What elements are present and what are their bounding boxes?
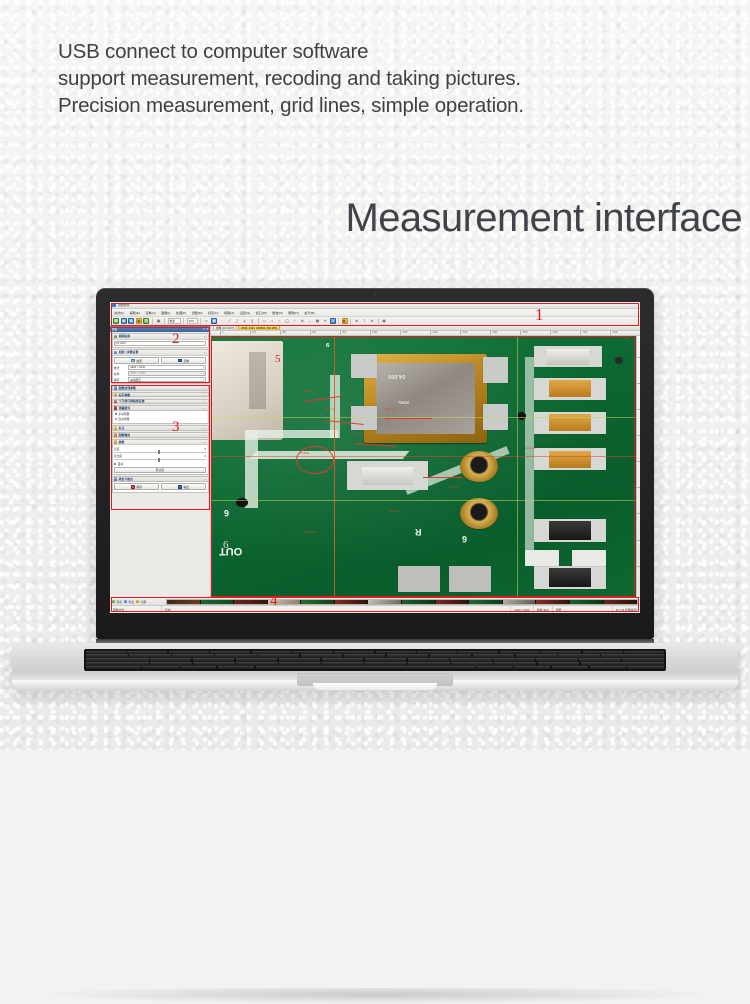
cursor-icon[interactable]: ↖ bbox=[204, 318, 210, 324]
chevron-down-icon[interactable]: ⌄ bbox=[204, 393, 206, 397]
solder-pad bbox=[351, 406, 376, 429]
solder-pad bbox=[483, 357, 508, 383]
status-file-tab[interactable]: 图像文件 bbox=[110, 606, 162, 613]
brightness-slider-top: 亮度 0 bbox=[114, 447, 206, 451]
thumbnail[interactable] bbox=[335, 600, 369, 604]
list-label: 列表 bbox=[128, 600, 134, 604]
section-annotation[interactable]: 标注 ⌄ bbox=[112, 425, 209, 431]
save-file-icon[interactable]: ▤ bbox=[128, 318, 134, 324]
zoom-in-icon[interactable]: ⊕ bbox=[354, 318, 360, 324]
menu-image[interactable]: 图像(I) bbox=[161, 310, 170, 315]
toolbar-separator bbox=[200, 318, 201, 324]
menu-settings[interactable]: 设置(S) bbox=[240, 310, 250, 315]
measure-label: 42.41 um bbox=[304, 391, 314, 393]
keyboard-row bbox=[86, 651, 664, 654]
app-icon bbox=[112, 303, 116, 307]
toolbar-separator bbox=[164, 318, 165, 324]
device-group-body: HY-2307 bbox=[113, 340, 208, 347]
measure-label: R=12.06 um bbox=[304, 532, 317, 534]
parallel-icon[interactable]: ∥ bbox=[249, 318, 255, 324]
crystal-can-body: 54.000 XTAL bbox=[376, 363, 475, 434]
capture-icon[interactable]: ▥ bbox=[143, 318, 149, 324]
menu-edit[interactable]: 编辑(E) bbox=[130, 310, 140, 315]
chevron-down-icon[interactable]: ⌄ bbox=[204, 406, 206, 410]
smd-component bbox=[547, 349, 589, 365]
window-title-bar: 测量软件 bbox=[110, 302, 640, 309]
annotation-number-1: 1 bbox=[535, 306, 544, 323]
angle-icon[interactable]: ∠ bbox=[242, 318, 248, 324]
keyboard-row bbox=[86, 654, 664, 657]
toolbar-separator bbox=[350, 318, 351, 324]
smd-component bbox=[549, 521, 591, 539]
circle-icon[interactable]: ○ bbox=[276, 318, 282, 324]
report-icon bbox=[114, 477, 117, 480]
brightness-slider-row: 亮度 0 bbox=[114, 447, 206, 453]
open-file-icon[interactable]: ▤ bbox=[121, 318, 127, 324]
status-memory: 977.24 兆像素/秒 bbox=[613, 606, 640, 613]
toolbar-separator bbox=[152, 318, 153, 324]
slider-icon bbox=[114, 440, 117, 443]
save-all-icon[interactable]: ▣ bbox=[136, 318, 142, 324]
camera-icon bbox=[131, 359, 135, 363]
chevron-down-icon: ▾ bbox=[203, 372, 204, 375]
measurement-software-window: 测量软件 文件(F) 编辑(E) 查看(V) 图像(I) 处理(P) 测量(M)… bbox=[110, 302, 640, 613]
window-title: 测量软件 bbox=[118, 303, 130, 307]
radius-icon[interactable]: ⊕ bbox=[299, 318, 305, 324]
export-icon bbox=[178, 485, 182, 489]
measure-label: 40.40 um bbox=[525, 448, 535, 450]
capture-group-expander-icon[interactable]: ⌄ bbox=[204, 350, 206, 354]
preview-icon bbox=[112, 600, 115, 603]
grid-icon[interactable]: ▦ bbox=[314, 318, 320, 324]
smd-component bbox=[549, 451, 591, 468]
checkbox-icon bbox=[114, 463, 117, 466]
section-calibration[interactable]: 标定参数 ⌄ bbox=[112, 392, 209, 398]
stack-icon bbox=[114, 433, 117, 436]
menu-calibrate[interactable]: 标定(C) bbox=[208, 310, 218, 315]
drill-hole bbox=[517, 412, 526, 420]
status-resolution: 4320 x 3240 bbox=[511, 606, 533, 613]
savepath-row: 保存 本地硬盘 ▾ bbox=[114, 377, 206, 382]
copy-line-3: Precision measurement, grid lines, simpl… bbox=[58, 92, 678, 119]
eraser-icon[interactable]: ◧ bbox=[342, 318, 348, 324]
menu-process[interactable]: 处理(P) bbox=[176, 310, 186, 315]
radio-dot-icon bbox=[115, 418, 118, 421]
keyboard-row bbox=[86, 658, 664, 661]
section-image-processing[interactable]: 图像处理参数 ⌄ bbox=[112, 385, 209, 391]
solder-pad bbox=[525, 550, 559, 566]
smd-component bbox=[362, 467, 413, 485]
keyboard-row bbox=[86, 666, 664, 669]
thumbnail[interactable] bbox=[570, 600, 604, 604]
solder-pad bbox=[572, 550, 606, 566]
laptop-lid: 测量软件 文件(F) 编辑(E) 查看(V) 图像(I) 处理(P) 测量(M)… bbox=[96, 288, 654, 639]
panel-close-icon[interactable]: ✕ bbox=[206, 327, 208, 331]
brightness-label: 亮度 bbox=[114, 447, 120, 451]
copy-line-2: support measurement, recoding and taking… bbox=[58, 65, 678, 92]
pcb-photograph: 54.000 XTAL bbox=[211, 336, 636, 597]
chevron-down-icon[interactable]: ⌄ bbox=[204, 386, 206, 390]
annotation-number-4: 4 bbox=[270, 594, 278, 609]
menu-video[interactable]: 视频(A) bbox=[224, 310, 234, 315]
webcam-icon bbox=[374, 293, 377, 296]
rect-icon[interactable]: ▭ bbox=[261, 318, 267, 324]
menu-bar: 文件(F) 编辑(E) 查看(V) 图像(I) 处理(P) 测量(M) 标定(C… bbox=[110, 309, 640, 317]
toolbar-separator bbox=[338, 318, 339, 324]
format-label: 格式 bbox=[114, 366, 127, 370]
savepath-label: 保存 bbox=[114, 378, 127, 382]
ruler-tick: 1800 bbox=[492, 332, 497, 334]
laptop-mockup: 测量软件 文件(F) 编辑(E) 查看(V) 图像(I) 处理(P) 测量(M)… bbox=[0, 288, 750, 708]
measure-circle[interactable] bbox=[296, 446, 334, 475]
drill-hole bbox=[236, 498, 247, 507]
chevron-down-icon: ▾ bbox=[203, 366, 204, 369]
section-annotation-label: 标注 bbox=[119, 426, 125, 430]
point-icon[interactable]: · bbox=[219, 318, 225, 324]
drill-hole bbox=[615, 357, 623, 364]
tab-image-file[interactable]: 2018_0101_003534_010.JPG bbox=[238, 325, 280, 330]
crystal-marking-name: XTAL bbox=[398, 400, 409, 405]
annotation-number-3: 3 bbox=[172, 420, 180, 435]
scale-field[interactable]: 40% bbox=[187, 318, 198, 324]
ruler-tick: 1600 bbox=[462, 332, 467, 334]
large-label: 大图 bbox=[140, 600, 146, 604]
thumbnail[interactable] bbox=[402, 600, 436, 604]
slider-thumb[interactable] bbox=[158, 450, 160, 454]
menu-file[interactable]: 文件(F) bbox=[114, 310, 124, 315]
ruler-tick: 1000 bbox=[372, 332, 377, 334]
contrast-slider[interactable] bbox=[114, 459, 206, 460]
image-icon bbox=[114, 386, 117, 389]
note-icon bbox=[114, 426, 117, 429]
section-grid-lines-label: 十字线与网格线设置 bbox=[119, 399, 145, 403]
keyboard-row bbox=[86, 662, 664, 665]
trace bbox=[245, 430, 258, 508]
framerate-select[interactable]: 1920 × 1080 ▾ bbox=[128, 371, 206, 376]
ruler-tick: 2000 bbox=[522, 332, 527, 334]
radio-dot-icon bbox=[115, 413, 118, 416]
measure-icon bbox=[114, 406, 117, 409]
status-zoom: 缩放 40% bbox=[534, 606, 553, 613]
savepath-value: 本地硬盘 bbox=[130, 378, 141, 382]
vertical-ruler bbox=[636, 336, 640, 597]
export-report-button[interactable]: 输出 bbox=[161, 483, 206, 490]
thumbnail[interactable] bbox=[368, 600, 402, 604]
unit-field[interactable]: 像素 bbox=[168, 318, 181, 324]
radio-manual-label: 手动测量 bbox=[118, 412, 129, 416]
capture-group: 拍照 / 录像设置 ⌄ 拍照 录像 bbox=[112, 349, 209, 384]
status-mode: 测量 bbox=[553, 606, 613, 613]
camera-icon bbox=[114, 335, 117, 338]
list-button[interactable]: 列表 bbox=[124, 600, 134, 604]
contrast-slider-row: 对比度 0 bbox=[114, 454, 206, 460]
video-icon bbox=[178, 359, 182, 363]
arc-icon[interactable]: ◠ bbox=[292, 318, 298, 324]
annotation-number-6: 6 bbox=[223, 540, 229, 551]
polyline-icon[interactable]: ╱ bbox=[234, 318, 240, 324]
format-select[interactable]: 4320 × 3240 ▾ bbox=[128, 365, 206, 370]
menu-view[interactable]: 查看(V) bbox=[145, 310, 155, 315]
device-group-expander-icon[interactable]: ⌄ bbox=[204, 334, 206, 338]
contrast-slider-top: 对比度 0 bbox=[114, 454, 206, 458]
device-group-title: 视频设备 bbox=[119, 334, 131, 338]
thumbnail[interactable] bbox=[301, 600, 335, 604]
section-measure-mode-label: 测量模式 bbox=[119, 406, 131, 410]
save-report-label: 保存 bbox=[136, 485, 142, 489]
square-icon[interactable]: □ bbox=[269, 318, 275, 324]
ruler-tick: 1200 bbox=[402, 332, 407, 334]
capture-buttons-row: 拍照 录像 bbox=[114, 357, 206, 364]
chevron-down-icon[interactable]: ⌄ bbox=[204, 426, 206, 430]
measure-label: 26.66 um bbox=[317, 472, 327, 474]
device-name-field[interactable]: HY-2307 bbox=[114, 341, 206, 346]
gold-via bbox=[460, 498, 498, 529]
grid-icon bbox=[114, 400, 117, 403]
silkscreen-r: R bbox=[415, 527, 422, 537]
brightness-value: 0 bbox=[205, 447, 207, 451]
section-calibration-label: 标定参数 bbox=[119, 393, 131, 397]
radio-manual-measure[interactable]: 手动测量 bbox=[115, 412, 206, 416]
toolbar-separator bbox=[378, 318, 379, 324]
calibrate-icon[interactable]: ⊿ bbox=[330, 318, 336, 324]
solder-pad bbox=[398, 566, 440, 592]
capture-group-title: 拍照 / 录像设置 bbox=[119, 350, 139, 354]
thumbnail-toolbar: 预览 列表 大图 bbox=[110, 597, 640, 605]
connector-slot bbox=[249, 352, 266, 409]
chevron-down-icon[interactable]: ⌄ bbox=[204, 477, 206, 481]
toolbar-separator bbox=[258, 318, 259, 324]
trace bbox=[245, 430, 338, 438]
chevron-down-icon[interactable]: ⌄ bbox=[204, 433, 206, 437]
laptop-screen: 测量软件 文件(F) 编辑(E) 查看(V) 图像(I) 处理(P) 测量(M)… bbox=[110, 302, 640, 613]
section-image-stack[interactable]: 图像叠加 ⌄ bbox=[112, 432, 209, 438]
select-icon[interactable]: ▣ bbox=[211, 318, 217, 324]
distance-icon[interactable]: ↔ bbox=[307, 318, 313, 324]
report-buttons-row: 保存 输出 bbox=[114, 483, 206, 490]
main-toolbar: ▤ ▤ ▤ ▣ ▥ ▦ 像素 40% ↖ ▣ · ╱ ╱ bbox=[110, 317, 640, 326]
measure-label: 61.72 um bbox=[449, 487, 459, 489]
solder-pad bbox=[351, 354, 376, 377]
adjust-group-title: 参数 bbox=[119, 440, 125, 444]
annotation-number-5: 5 bbox=[275, 354, 281, 365]
crystal-oscillator-package: 54.000 XTAL bbox=[364, 354, 487, 443]
page-headline: Measurement interface bbox=[346, 196, 742, 241]
section-image-processing-label: 图像处理参数 bbox=[119, 386, 136, 390]
thumbnail[interactable] bbox=[536, 600, 570, 604]
measure-label: 51.25 um bbox=[389, 511, 399, 513]
silkscreen-g: 9 bbox=[326, 341, 329, 347]
measure-line[interactable] bbox=[355, 443, 397, 446]
ruler-tick: 600 bbox=[312, 332, 316, 334]
section-image-stack-label: 图像叠加 bbox=[119, 433, 131, 437]
thumbnail[interactable] bbox=[167, 600, 201, 604]
panel-caption-buttons: ▾ ✕ bbox=[203, 327, 208, 331]
measure-label: 33.12 um bbox=[355, 435, 365, 437]
status-ready: 就绪 bbox=[162, 606, 511, 613]
ruler-tick: 0 bbox=[222, 332, 223, 334]
ruler-tick: 200 bbox=[252, 332, 256, 334]
text-icon[interactable]: T bbox=[361, 318, 367, 324]
framerate-label: 帧率 bbox=[114, 372, 127, 376]
crosshair-icon[interactable]: ✛ bbox=[322, 318, 328, 324]
thumbnail[interactable] bbox=[469, 600, 503, 604]
menu-report[interactable]: 报告(R) bbox=[272, 310, 282, 315]
radio-auto-label: 自动测量 bbox=[118, 417, 129, 421]
brightness-slider[interactable] bbox=[114, 452, 206, 453]
export-report-label: 输出 bbox=[183, 485, 189, 489]
print-icon[interactable]: ▦ bbox=[155, 318, 161, 324]
trace bbox=[525, 357, 533, 566]
annotation-number-2: 2 bbox=[172, 332, 180, 347]
measure-mode-radios: 手动测量 自动测量 bbox=[112, 411, 209, 424]
large-icon bbox=[136, 600, 139, 603]
toolbar-separator bbox=[183, 318, 184, 324]
menu-about[interactable]: 关于(B) bbox=[304, 310, 314, 315]
laptop-front-notch bbox=[313, 683, 437, 690]
auto-checkbox-label: 自动 bbox=[118, 462, 124, 466]
thumbnail[interactable] bbox=[604, 600, 638, 604]
large-thumbs-button[interactable]: 大图 bbox=[136, 600, 146, 604]
video-button[interactable]: 录像 bbox=[161, 357, 206, 364]
panel-caption-label: 面板 bbox=[112, 327, 118, 331]
ruler-tick: 1400 bbox=[432, 332, 437, 334]
line-icon[interactable]: ╱ bbox=[226, 318, 232, 324]
section-grid-lines[interactable]: 十字线与网格线设置 ⌄ bbox=[112, 399, 209, 405]
menu-measure[interactable]: 测量(M) bbox=[192, 310, 203, 315]
format-value: 4320 × 3240 bbox=[130, 366, 145, 369]
silkscreen-6b: 6 bbox=[462, 534, 467, 544]
thumbnail[interactable] bbox=[503, 600, 537, 604]
laptop-keyboard[interactable] bbox=[84, 649, 666, 671]
auto-checkbox[interactable]: 自动 bbox=[114, 462, 206, 466]
framerate-row: 帧率 1920 × 1080 ▾ bbox=[114, 371, 206, 376]
save-icon bbox=[131, 485, 135, 489]
contrast-label: 对比度 bbox=[114, 454, 122, 458]
menu-help[interactable]: 帮助(H) bbox=[288, 310, 298, 315]
ellipse-icon[interactable]: ◯ bbox=[284, 318, 290, 324]
image-canvas[interactable]: 54.000 XTAL bbox=[211, 336, 636, 597]
zoom-out-icon[interactable]: ⊖ bbox=[369, 318, 375, 324]
laptop-shadow bbox=[40, 988, 710, 1004]
ruler-tick: 2600 bbox=[613, 332, 618, 334]
new-file-icon[interactable]: ▤ bbox=[113, 318, 119, 324]
adjust-group-body: 亮度 0 对比度 0 bbox=[113, 445, 208, 474]
thumbnail[interactable] bbox=[234, 600, 268, 604]
capture-icon bbox=[114, 351, 117, 354]
device-group: 视频设备 ⌄ HY-2307 bbox=[112, 333, 209, 348]
smd-component bbox=[549, 380, 591, 397]
ruler-tick: 800 bbox=[342, 332, 346, 334]
radio-auto-measure[interactable]: 自动测量 bbox=[115, 417, 206, 421]
capture-group-body: 拍照 录像 格式 4320 × 3240 bbox=[113, 356, 208, 383]
ruler-tick: 2200 bbox=[552, 332, 557, 334]
trace bbox=[330, 375, 340, 438]
smd-component bbox=[549, 568, 591, 586]
copy-line-1: USB connect to computer software bbox=[58, 38, 678, 65]
crystal-marking-frequency: 54.000 bbox=[388, 373, 405, 379]
save-report-button[interactable]: 保存 bbox=[114, 483, 159, 490]
savepath-select[interactable]: 本地硬盘 ▾ bbox=[128, 377, 206, 382]
adjust-group: 参数 ⌄ 亮度 0 bbox=[112, 439, 209, 475]
list-icon bbox=[124, 600, 127, 603]
thumbnail[interactable] bbox=[201, 600, 235, 604]
tab-camera-live[interactable]: 摄像 (HY-2307) bbox=[213, 325, 237, 330]
silkscreen-6: 6 bbox=[224, 508, 229, 518]
contrast-value: 0 bbox=[205, 454, 207, 458]
white-connector bbox=[211, 341, 283, 440]
ruler-tick: 400 bbox=[282, 332, 286, 334]
laptop-base bbox=[12, 643, 738, 691]
format-row: 格式 4320 × 3240 ▾ bbox=[114, 365, 206, 370]
video-button-label: 录像 bbox=[183, 359, 189, 363]
report-buttons-body: 保存 输出 bbox=[112, 482, 209, 493]
preview-label: 预览 bbox=[116, 600, 122, 604]
status-bar: 图像文件 就绪 4320 x 3240 缩放 40% 测量 977.24 兆像素… bbox=[110, 605, 640, 613]
solder-pad bbox=[449, 566, 491, 592]
measure-label: 38.60 um bbox=[385, 409, 395, 411]
photo-button[interactable]: 拍照 bbox=[114, 357, 159, 364]
marketing-copy: USB connect to computer software support… bbox=[58, 38, 678, 119]
calib-icon bbox=[114, 393, 117, 396]
fit-icon[interactable]: ▣ bbox=[381, 318, 387, 324]
chevron-down-icon: ▾ bbox=[203, 378, 204, 381]
section-report-label: 报告与格式 bbox=[119, 477, 133, 481]
framerate-value: 1920 × 1080 bbox=[130, 372, 145, 375]
chevron-down-icon[interactable]: ⌄ bbox=[204, 440, 206, 444]
thumbnail[interactable] bbox=[436, 600, 470, 604]
ruler-tick: 2400 bbox=[583, 332, 588, 334]
panel-caption-bar: 面板 ▾ ✕ bbox=[110, 326, 210, 332]
left-side-panel: 面板 ▾ ✕ 视频设备 ⌄ HY bbox=[110, 326, 211, 597]
photo-button-label: 拍照 bbox=[136, 359, 142, 363]
preview-button[interactable]: 预览 bbox=[112, 600, 122, 604]
reset-defaults-button[interactable]: 默认值 bbox=[114, 467, 206, 472]
panel-collapse-icon[interactable]: ▾ bbox=[203, 327, 204, 331]
menu-window[interactable]: 窗口(W) bbox=[256, 310, 267, 315]
chevron-down-icon[interactable]: ⌄ bbox=[204, 399, 206, 403]
